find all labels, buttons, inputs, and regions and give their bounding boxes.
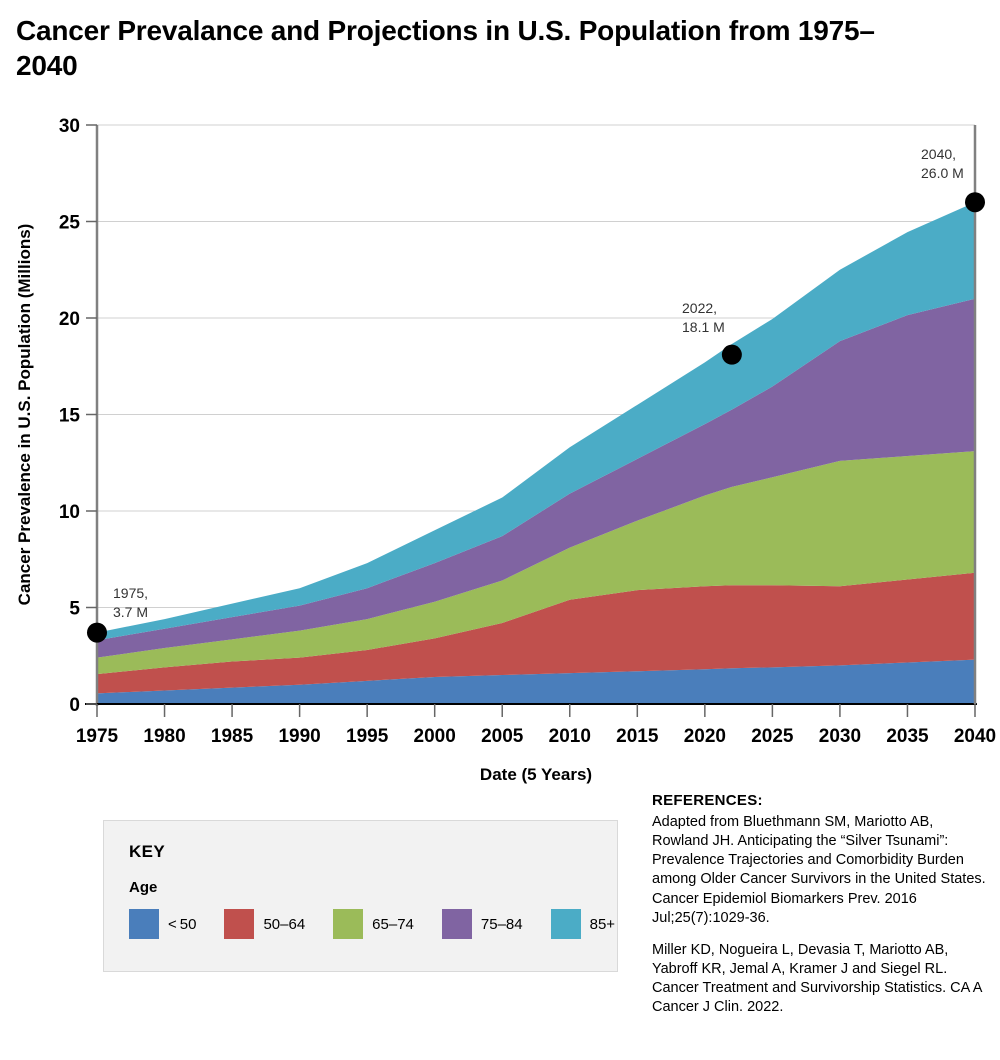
legend-item-label: 75–84 [481,916,523,933]
legend-item: 65–74 [333,909,414,939]
legend-swatch-icon [129,909,159,939]
legend-item: 50–64 [224,909,305,939]
annotation-marker-dot [87,623,107,643]
legend-swatch-icon [551,909,581,939]
y-tick-label: 15 [59,406,81,427]
reference-entry: Adapted from Bluethmann SM, Mariotto AB,… [652,813,988,928]
legend-item-label: < 50 [168,916,196,933]
legend-title: KEY [129,842,165,862]
x-tick-label: 2005 [481,726,524,747]
legend-item-label: 50–64 [263,916,305,933]
page-title: Cancer Prevalance and Projections in U.S… [16,14,916,83]
x-tick-label: 2035 [886,726,929,747]
legend-item: 85+ [551,909,615,939]
chart-svg: 0510152025301975198019851990199520002005… [0,100,1000,790]
legend-swatch-icon [224,909,254,939]
legend-key-box: KEY Age < 5050–6465–7475–8485+ [103,820,618,972]
legend-item: < 50 [129,909,196,939]
x-tick-label: 1995 [346,726,389,747]
y-axis-title: Cancer Prevalence in U.S. Population (Mi… [15,224,34,606]
y-tick-label: 0 [69,695,80,716]
y-tick-label: 20 [59,309,80,330]
x-tick-label: 2030 [819,726,861,747]
annotation-label-line1: 1975, [113,585,148,601]
x-tick-label: 1990 [278,726,320,747]
legend-item: 75–84 [442,909,523,939]
x-tick-label: 2015 [616,726,659,747]
references-entries: Adapted from Bluethmann SM, Mariotto AB,… [652,813,988,1017]
x-tick-label: 2020 [684,726,726,747]
legend-item-label: 85+ [590,916,615,933]
x-tick-label: 2000 [414,726,456,747]
legend-item-label: 65–74 [372,916,414,933]
y-tick-label: 5 [69,599,80,620]
references-block: REFERENCES: Adapted from Bluethmann SM, … [652,792,988,1030]
legend-subtitle: Age [129,879,157,896]
legend-items: < 5050–6465–7475–8485+ [129,909,643,939]
annotation-marker-dot [965,192,985,212]
annotation-marker-dot [722,345,742,365]
y-tick-label: 25 [59,213,81,234]
annotation-label-line1: 2040, [921,146,956,162]
y-tick-label: 30 [59,116,80,137]
y-tick-label: 10 [59,502,80,523]
x-tick-label: 1980 [143,726,185,747]
annotation-label-line2: 26.0 M [921,165,964,181]
x-axis-title: Date (5 Years) [480,765,592,784]
annotation-label-line1: 2022, [682,300,717,316]
stacked-area-chart: 0510152025301975198019851990199520002005… [0,100,1000,790]
legend-swatch-icon [442,909,472,939]
reference-entry: Miller KD, Nogueira L, Devasia T, Mariot… [652,941,988,1018]
x-tick-label: 2040 [954,726,996,747]
x-tick-label: 2010 [549,726,591,747]
legend-swatch-icon [333,909,363,939]
x-tick-label: 1985 [211,726,254,747]
annotation-label-line2: 18.1 M [682,319,725,335]
x-tick-label: 2025 [751,726,794,747]
annotation-label-line2: 3.7 M [113,604,148,620]
references-heading: REFERENCES: [652,792,988,809]
x-tick-label: 1975 [76,726,119,747]
